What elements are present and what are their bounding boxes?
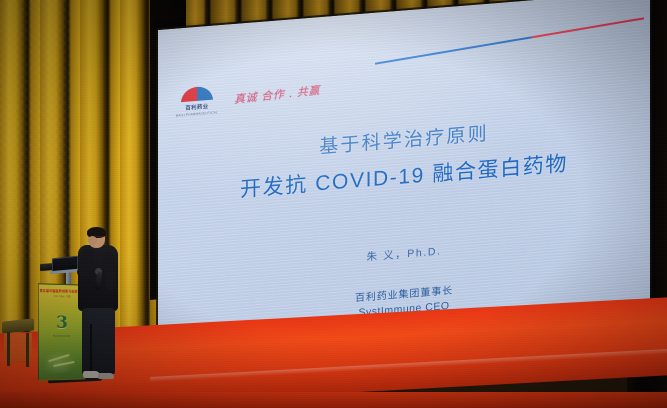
accent-line-red-segment	[531, 17, 644, 38]
wheat-stalk	[53, 361, 75, 367]
speaker-shoe-right	[98, 373, 114, 379]
accent-diagonal-line	[375, 17, 644, 64]
speaker-hand	[88, 236, 97, 245]
speaker	[74, 228, 126, 386]
slide-logo-lockup: 百利药业 BAILI PHARMACEUTICAL 真诚 合作 . 共赢	[176, 75, 320, 117]
brand-logo: 百利药业 BAILI PHARMACEUTICAL	[176, 83, 218, 117]
script-wordmark: 真诚 合作 . 共赢	[234, 81, 320, 106]
conference-photo: 百利药业 BAILI PHARMACEUTICAL 真诚 合作 . 共赢 基于科…	[0, 0, 667, 408]
stage-floor-front-face	[0, 392, 667, 408]
slide-title: 基于科学治疗原则 开发抗 COVID-19 融合蛋白药物	[158, 109, 650, 211]
wheat-stalk	[48, 354, 70, 362]
brand-name-en: BAILI PHARMACEUTICAL	[176, 110, 218, 117]
arch-dome-icon	[179, 83, 215, 103]
side-table-leg-right	[26, 333, 29, 367]
accent-line-blue-segment	[375, 36, 531, 64]
speaker-legs	[82, 308, 115, 374]
side-table-leg-left	[7, 332, 10, 366]
side-table	[2, 320, 36, 372]
speaker-leg-separation	[90, 324, 92, 372]
